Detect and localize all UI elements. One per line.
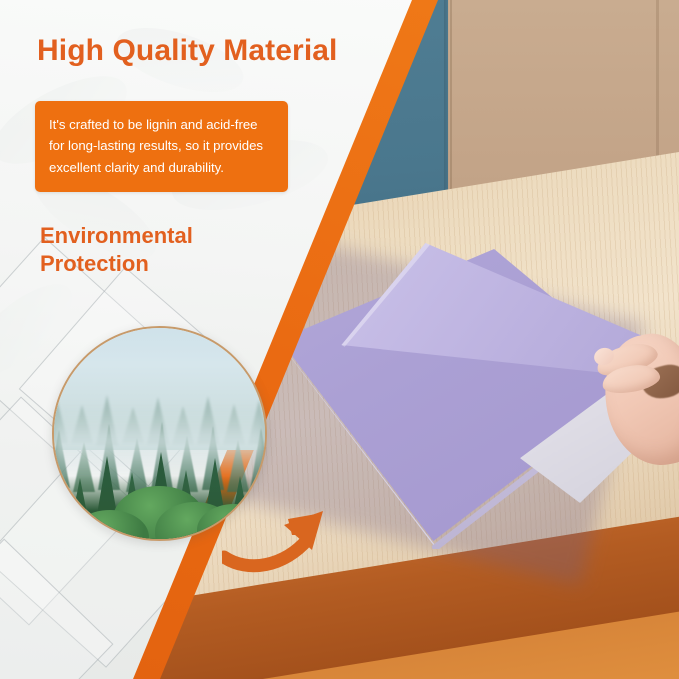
hand-lifting-paper bbox=[588, 318, 679, 468]
feature-callout-box: It's crafted to be lignin and acid-free … bbox=[35, 101, 288, 192]
infographic-canvas: High Quality Material It's crafted to be… bbox=[0, 0, 679, 679]
curved-arrow-icon bbox=[222, 495, 352, 581]
section-subtitle-line2: Protection bbox=[40, 250, 193, 278]
section-subtitle: Environmental Protection bbox=[40, 222, 193, 278]
page-title: High Quality Material bbox=[37, 34, 338, 68]
section-subtitle-line1: Environmental bbox=[40, 222, 193, 250]
